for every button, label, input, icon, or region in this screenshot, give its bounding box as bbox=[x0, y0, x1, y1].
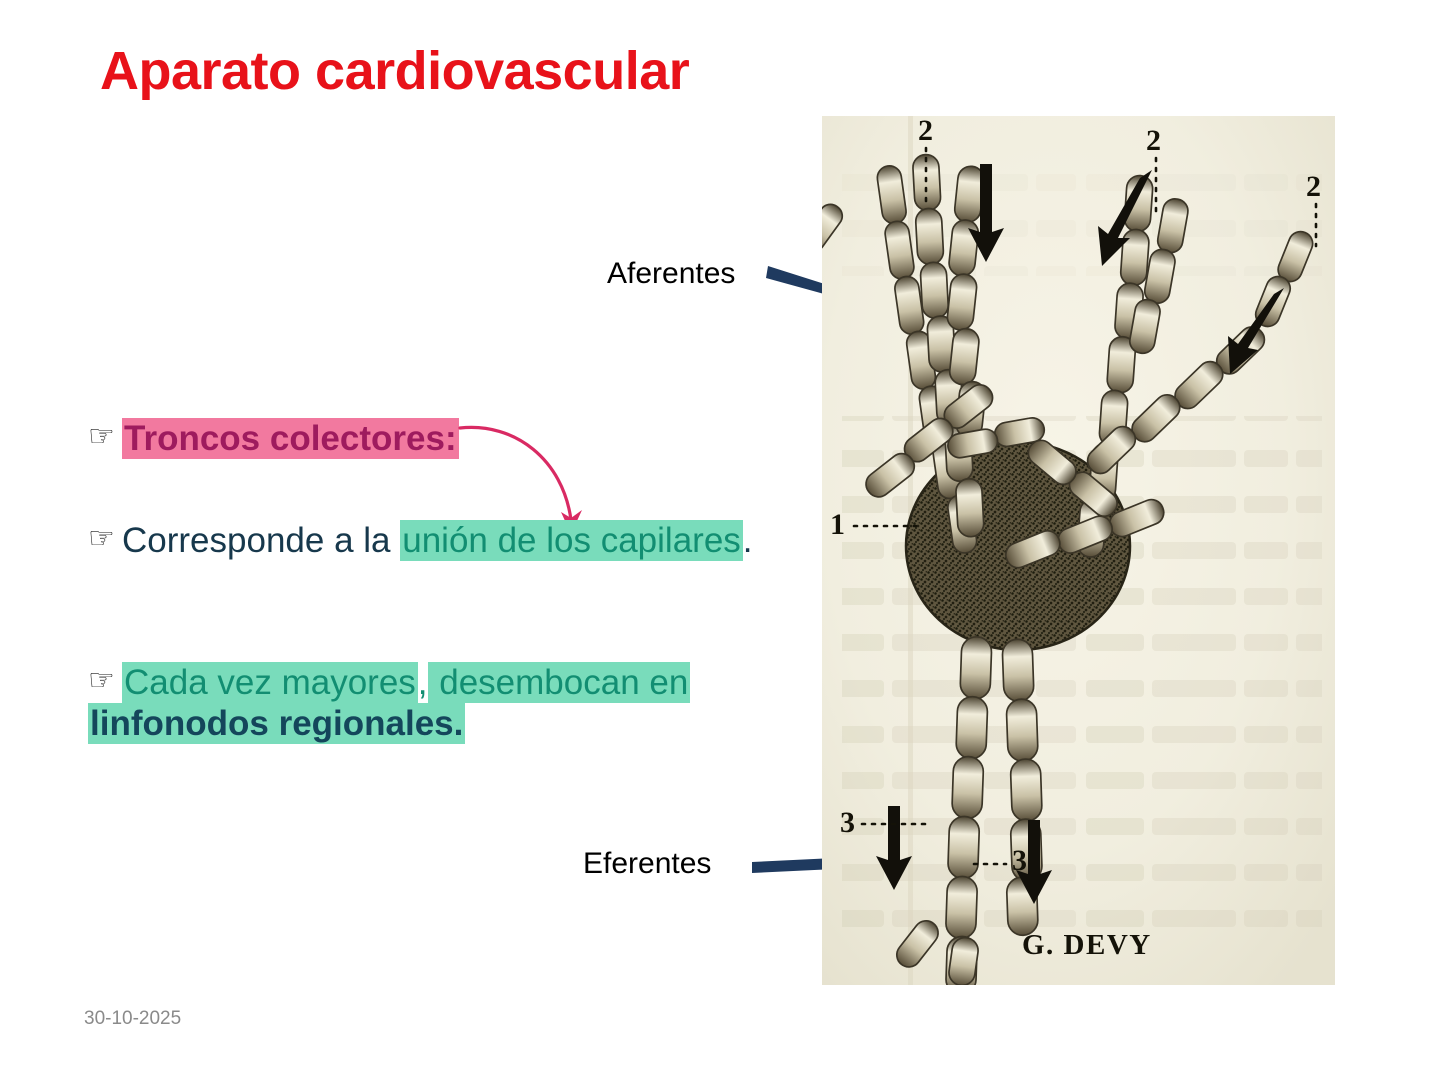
pointing-hand-icon: ☞ bbox=[88, 666, 122, 696]
figure-number-label: 1 bbox=[830, 508, 845, 541]
engraving-artwork: 2 2 2 1 3 3 G. DEVY bbox=[822, 116, 1335, 985]
bullet-text-desembocan-en: desembocan en bbox=[428, 662, 691, 703]
bullet-text-linfonodos-regionales: linfonodos regionales. bbox=[88, 703, 465, 744]
bullet-item-cada-vez-mayores: ☞Cada vez mayores, desembocan en linfono… bbox=[88, 662, 788, 745]
bullet-text-troncos-colectores: Troncos colectores: bbox=[122, 418, 459, 459]
bullet-text-corresponde-tail: . bbox=[743, 521, 753, 560]
pointing-hand-icon: ☞ bbox=[88, 524, 122, 554]
figure-signature: G. DEVY bbox=[1022, 929, 1152, 961]
bullet-text-corresponde-lead: Corresponde a la bbox=[122, 521, 400, 560]
slide-canvas: Aparato cardiovascular ☞Troncos colector… bbox=[0, 0, 1440, 1080]
lymph-node-engraving-figure: 2 2 2 1 3 3 G. DEVY bbox=[822, 116, 1335, 985]
figure-number-label: 3 bbox=[1012, 844, 1027, 877]
bullet-text-cada-vez-mayores: Cada vez mayores bbox=[122, 662, 418, 703]
pointing-hand-icon: ☞ bbox=[88, 422, 122, 452]
bullet-item-corresponde-capilares: ☞Corresponde a la unión de los capilares… bbox=[88, 520, 788, 561]
figure-number-label: 3 bbox=[840, 806, 855, 839]
callout-label-aferentes: Aferentes bbox=[607, 257, 735, 291]
bullet-text-comma: , bbox=[418, 663, 428, 702]
bullet-text-union-capilares: unión de los capilares bbox=[400, 520, 743, 561]
bullet-item-troncos-colectores: ☞Troncos colectores: bbox=[88, 418, 788, 459]
page-title: Aparato cardiovascular bbox=[100, 40, 689, 102]
figure-number-label: 2 bbox=[918, 116, 933, 147]
figure-number-label: 2 bbox=[1146, 124, 1161, 157]
slide-date: 30-10-2025 bbox=[84, 1008, 181, 1030]
callout-label-eferentes: Eferentes bbox=[583, 847, 711, 881]
figure-number-label: 2 bbox=[1306, 170, 1321, 203]
